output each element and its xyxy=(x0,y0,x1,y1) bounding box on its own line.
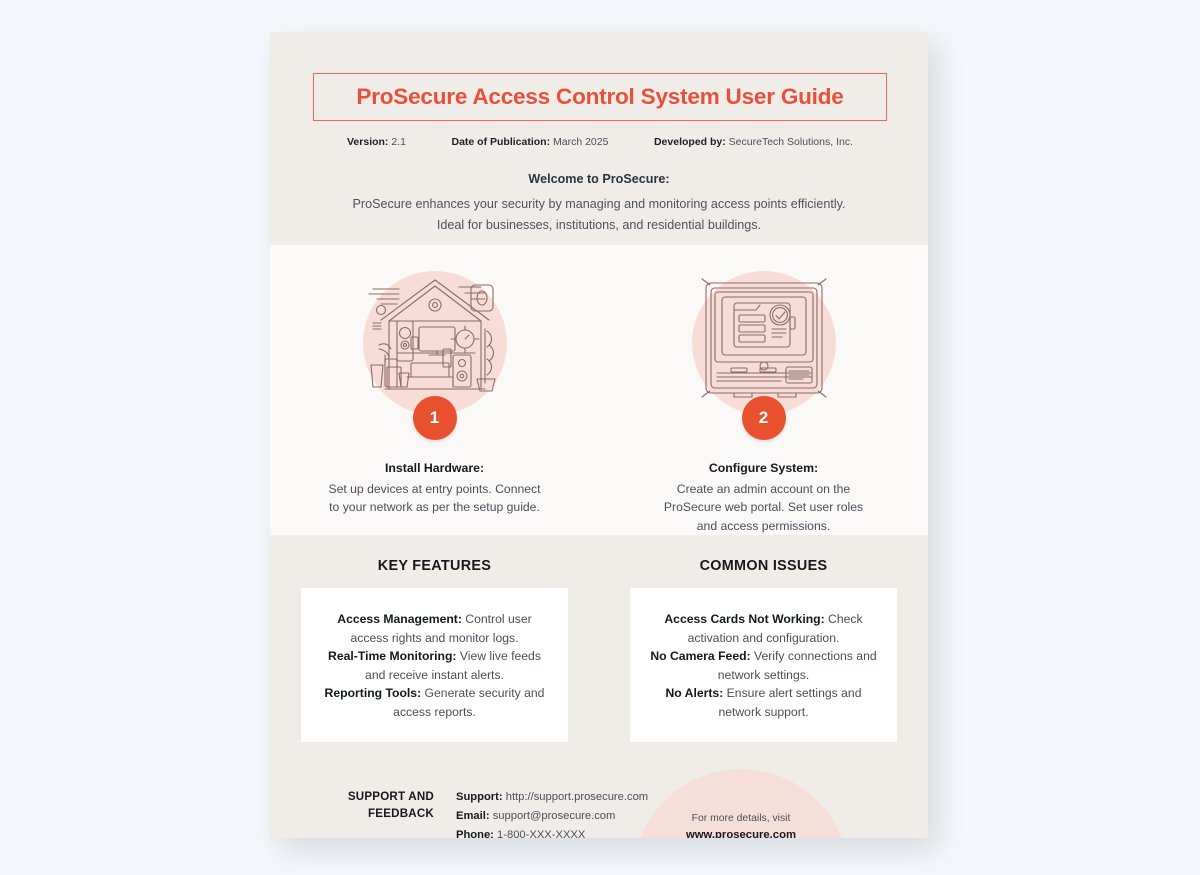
step-2-title: Configure System: xyxy=(599,461,928,475)
issue-term: Access Cards Not Working: xyxy=(664,612,824,626)
meta-version-value: 2.1 xyxy=(391,136,406,148)
meta-developer-label: Developed by: xyxy=(654,136,726,148)
meta-version-label: Version: xyxy=(347,136,388,148)
contact-phone: Phone: 1-800-XXX-XXXX xyxy=(456,826,648,838)
screenshot-root: ProSecure Access Control System User Gui… xyxy=(0,0,1200,875)
step-2: 2 Configure System: Create an admin acco… xyxy=(599,245,928,535)
content-columns: KEY FEATURES Access Management: Control … xyxy=(270,535,928,742)
column-common-issues: COMMON ISSUES Access Cards Not Working: … xyxy=(599,535,928,742)
contact-phone-value: 1-800-XXX-XXXX xyxy=(497,829,585,838)
step-1-number-badge: 1 xyxy=(413,396,457,440)
document-page: ProSecure Access Control System User Gui… xyxy=(270,32,928,838)
common-issues-heading: COMMON ISSUES xyxy=(599,558,928,574)
issue-text: Ensure alert settings and network suppor… xyxy=(718,686,861,719)
feature-item: Real-Time Monitoring: View live feeds an… xyxy=(321,647,548,684)
footer-note: For more details, visit www.prosecure.co… xyxy=(663,810,819,838)
feature-item: Access Management: Control user access r… xyxy=(321,610,548,647)
issue-item: Access Cards Not Working: Check activati… xyxy=(650,610,877,647)
meta-developer-value: SecureTech Solutions, Inc. xyxy=(729,136,853,148)
contact-support-value[interactable]: http://support.prosecure.com xyxy=(506,791,648,803)
meta-date-value: March 2025 xyxy=(553,136,608,148)
steps-band: 1 Install Hardware: Set up devices at en… xyxy=(270,245,928,535)
contact-support[interactable]: Support: http://support.prosecure.com xyxy=(456,788,648,807)
footer-note-text: For more details, visit xyxy=(692,813,791,824)
meta-date: Date of Publication: March 2025 xyxy=(451,136,608,148)
contact-support-label: Support: xyxy=(456,791,503,803)
welcome-body: ProSecure enhances your security by mana… xyxy=(349,194,849,235)
document-meta-row: Version: 2.1 Date of Publication: March … xyxy=(313,136,887,148)
feature-item: Reporting Tools: Generate security and a… xyxy=(321,684,548,721)
contact-email-label: Email: xyxy=(456,810,490,822)
contact-email-value[interactable]: support@prosecure.com xyxy=(493,810,616,822)
meta-version: Version: 2.1 xyxy=(347,136,406,148)
key-features-card: Access Management: Control user access r… xyxy=(301,588,568,742)
column-key-features: KEY FEATURES Access Management: Control … xyxy=(270,535,599,742)
welcome-heading: Welcome to ProSecure: xyxy=(270,172,928,186)
header-band: ProSecure Access Control System User Gui… xyxy=(270,32,928,245)
key-features-heading: KEY FEATURES xyxy=(270,558,599,574)
common-issues-card: Access Cards Not Working: Check activati… xyxy=(630,588,897,742)
step-2-number-badge: 2 xyxy=(742,396,786,440)
page-title: ProSecure Access Control System User Gui… xyxy=(356,84,843,110)
step-1-title: Install Hardware: xyxy=(270,461,599,475)
meta-date-label: Date of Publication: xyxy=(451,136,550,148)
step-1: 1 Install Hardware: Set up devices at en… xyxy=(270,245,599,535)
feature-term: Reporting Tools: xyxy=(325,686,422,700)
contact-email[interactable]: Email: support@prosecure.com xyxy=(456,807,648,826)
steps-row: 1 Install Hardware: Set up devices at en… xyxy=(270,245,928,535)
footer: SUPPORT AND FEEDBACK Support: http://sup… xyxy=(270,777,928,838)
feature-term: Real-Time Monitoring: xyxy=(328,649,456,663)
step-1-description: Set up devices at entry points. Connect … xyxy=(325,480,545,517)
contact-list: Support: http://support.prosecure.com Em… xyxy=(456,788,648,838)
issue-term: No Camera Feed: xyxy=(650,649,750,663)
step-2-description: Create an admin account on the ProSecure… xyxy=(654,480,874,535)
issue-item: No Camera Feed: Verify connections and n… xyxy=(650,647,877,684)
feature-term: Access Management: xyxy=(337,612,462,626)
support-section-label: SUPPORT AND FEEDBACK xyxy=(322,789,434,822)
document-title-box: ProSecure Access Control System User Gui… xyxy=(313,73,887,121)
contact-phone-label: Phone: xyxy=(456,829,494,838)
footer-website-url[interactable]: www.prosecure.com xyxy=(663,827,819,838)
meta-developer: Developed by: SecureTech Solutions, Inc. xyxy=(654,136,853,148)
issue-item: No Alerts: Ensure alert settings and net… xyxy=(650,684,877,721)
issue-term: No Alerts: xyxy=(665,686,723,700)
